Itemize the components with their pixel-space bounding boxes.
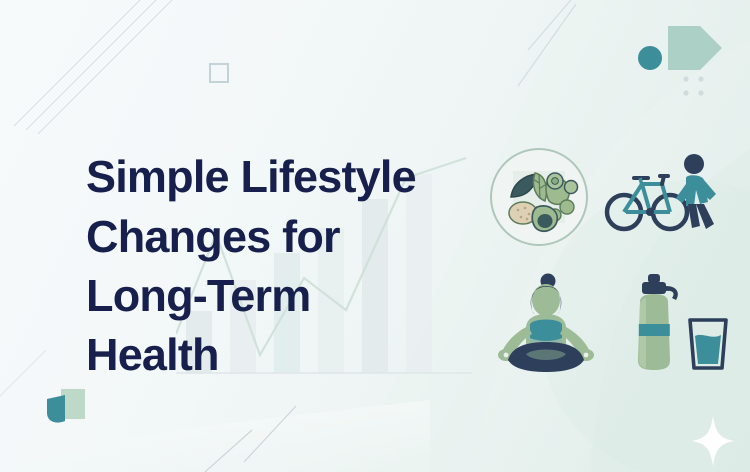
diagonal-lines-bottom xyxy=(205,406,296,472)
diagonal-lines-topleft xyxy=(14,0,176,134)
illustration-hydration xyxy=(624,268,732,376)
bottle-loop-handle xyxy=(666,286,678,300)
logo-curve xyxy=(47,395,65,423)
illustration-yoga-meditation xyxy=(490,268,602,376)
hero-banner: Simple Lifestyle Changes for Long-Term H… xyxy=(0,0,750,472)
illustration-salad-bowl xyxy=(487,145,591,249)
diagonal-lines-topright xyxy=(518,0,576,86)
four-point-sparkle-icon xyxy=(692,416,734,466)
illustration-bike-and-walker xyxy=(604,150,722,242)
bottle-nozzle xyxy=(648,274,660,283)
glass-water-fill xyxy=(695,335,721,364)
yoga-head xyxy=(532,284,560,316)
pea-blob-icon xyxy=(560,200,574,214)
walking-person-icon xyxy=(676,154,716,229)
bike-handlebar xyxy=(660,176,668,184)
diagonal-line-leftbottom xyxy=(0,350,46,402)
teal-circle-dot xyxy=(638,46,662,70)
small-square-outline xyxy=(210,64,228,82)
bike-crank xyxy=(646,208,654,216)
page-title: Simple Lifestyle Changes for Long-Term H… xyxy=(86,147,506,385)
bicycle-icon xyxy=(607,176,687,229)
brand-logo-mark[interactable] xyxy=(41,383,89,431)
walker-head xyxy=(684,154,704,174)
pentagon-arrow-icon xyxy=(668,26,722,70)
four-dot-cluster xyxy=(683,76,703,95)
bottle-band xyxy=(639,324,670,336)
background-curve-right xyxy=(470,40,750,472)
bottle-cap xyxy=(642,282,666,294)
avocado-pit-icon xyxy=(538,214,553,228)
cucumber-slice-icon-2 xyxy=(565,181,578,194)
